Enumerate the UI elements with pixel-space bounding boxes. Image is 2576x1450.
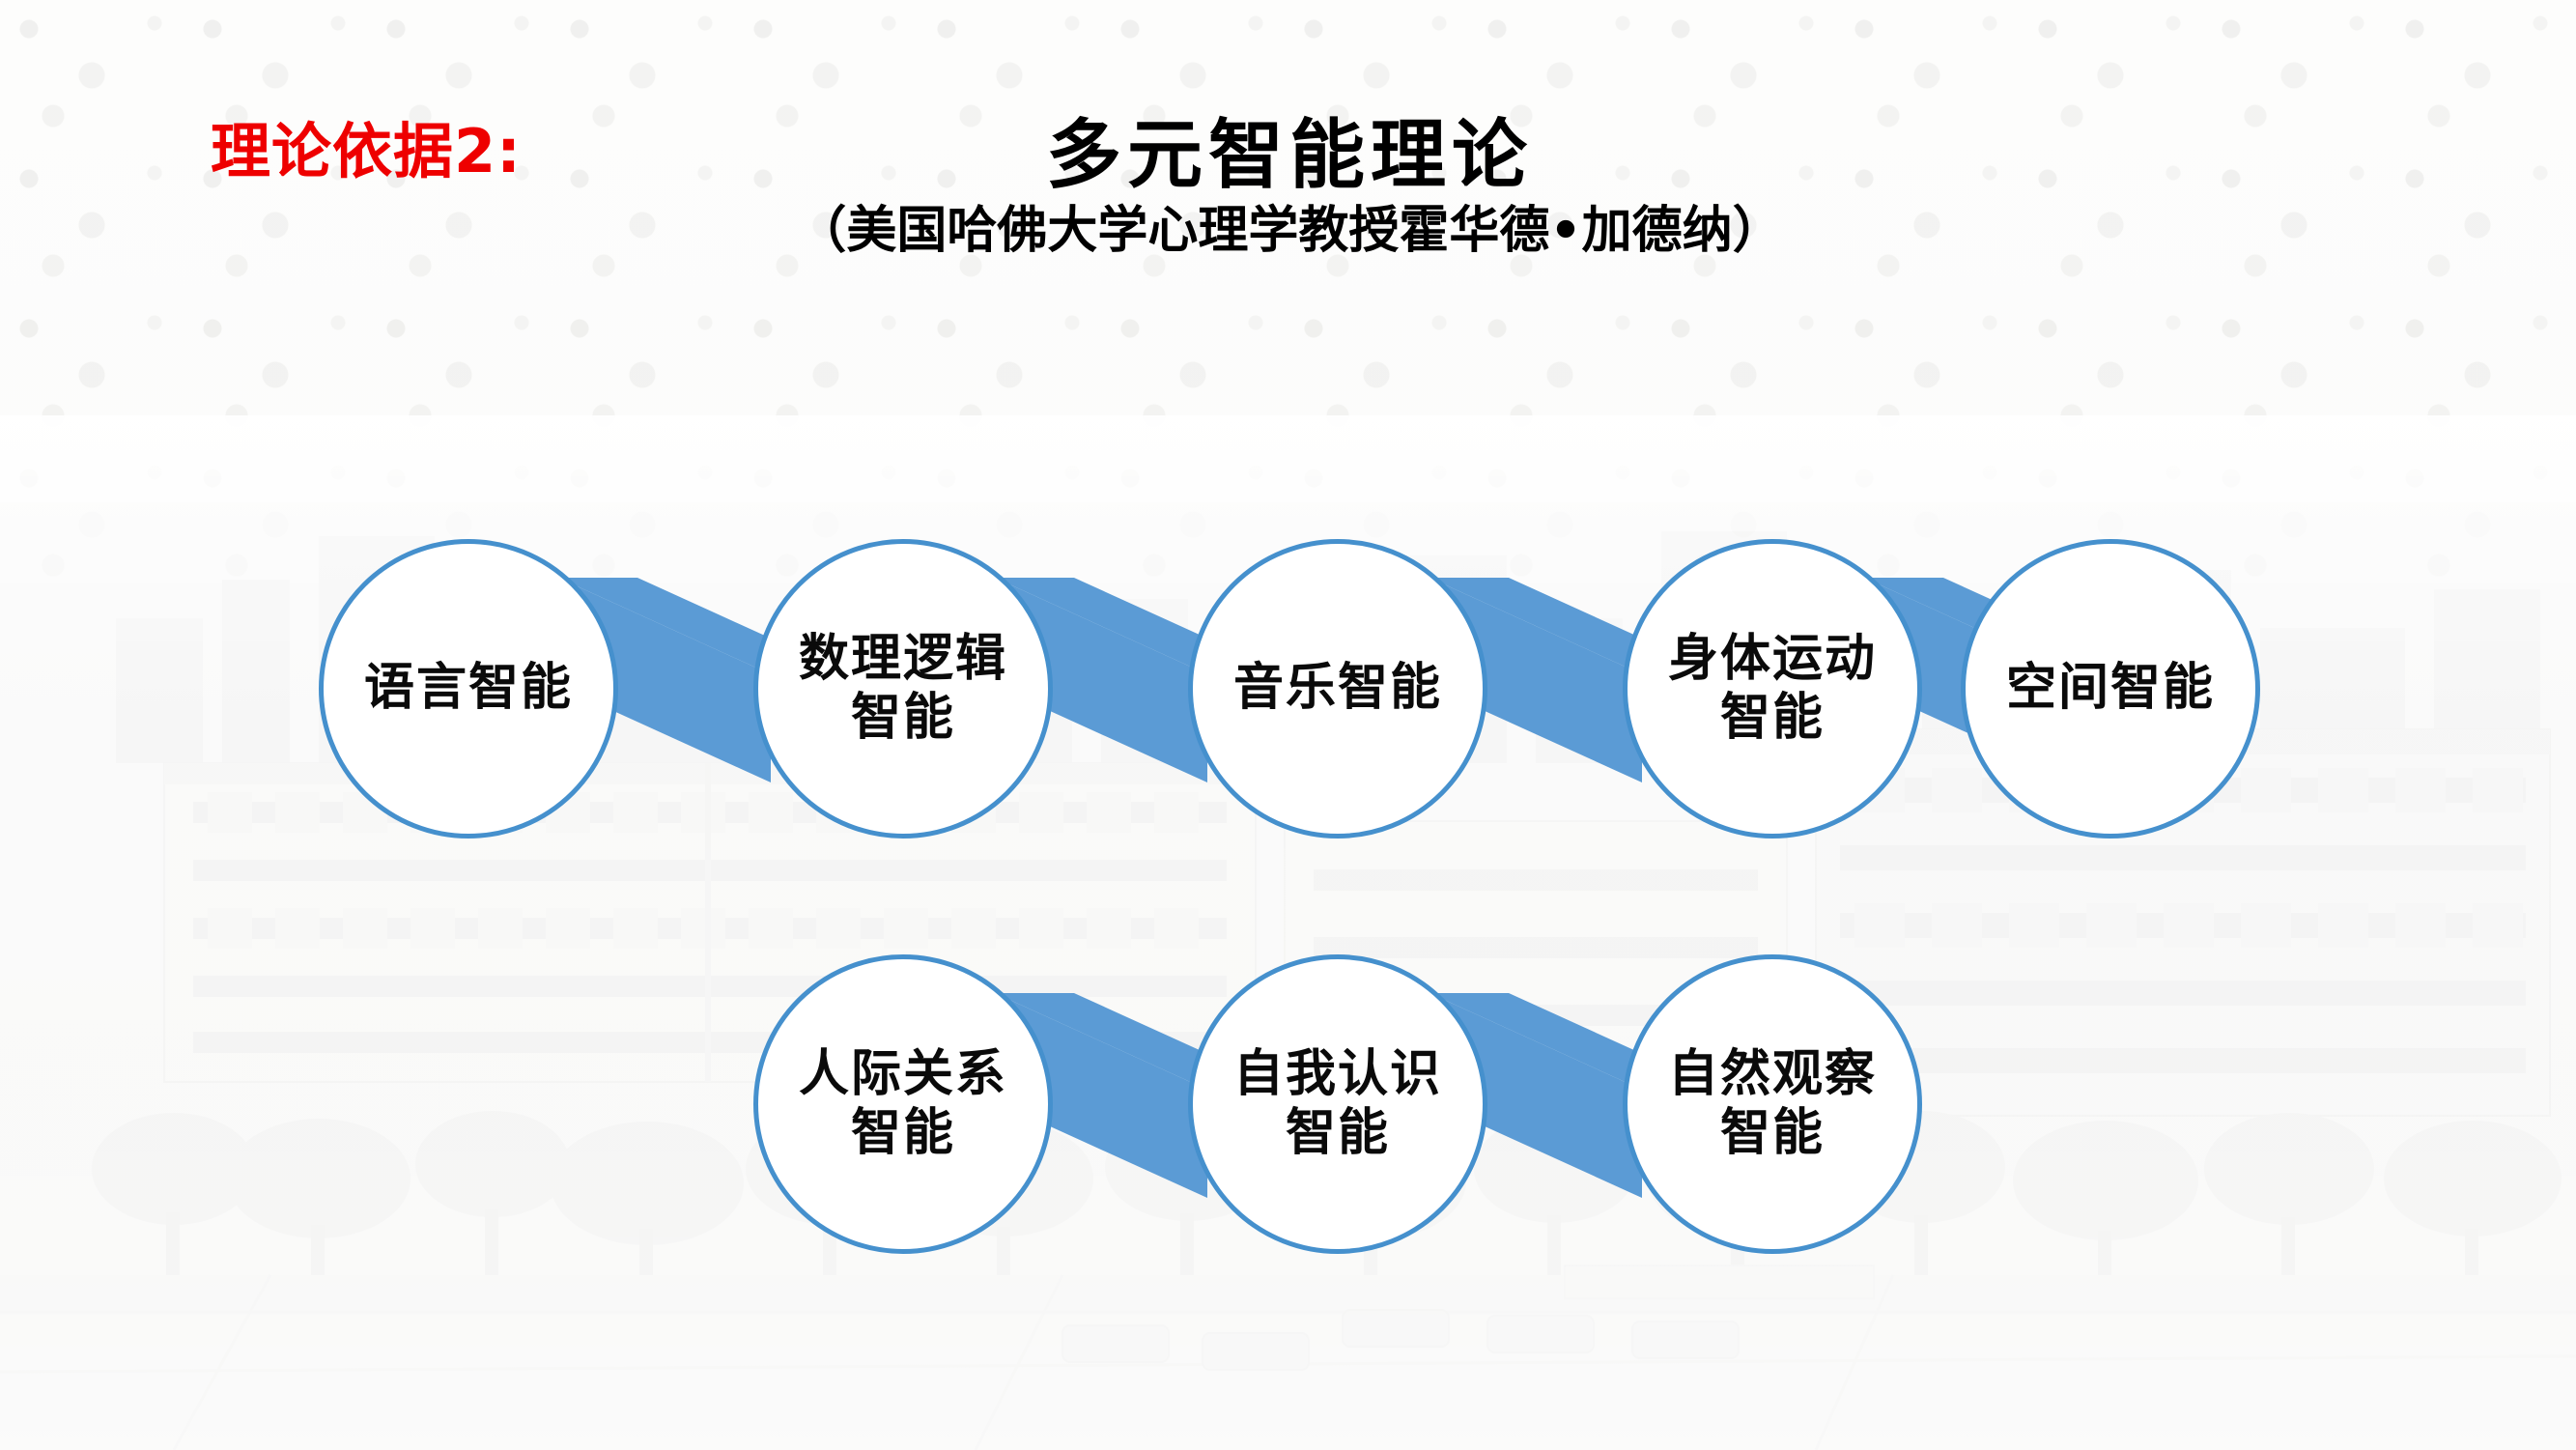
node-logical-math-label: 数理逻辑 智能 — [799, 630, 1007, 749]
node-interpersonal[interactable]: 人际关系 智能 — [753, 954, 1053, 1254]
node-intrapersonal[interactable]: 自我认识 智能 — [1188, 954, 1487, 1254]
node-naturalist-label: 自然观察 智能 — [1668, 1045, 1877, 1164]
node-intrapersonal-label: 自我认识 智能 — [1233, 1045, 1442, 1164]
node-musical[interactable]: 音乐智能 — [1188, 539, 1487, 839]
node-interpersonal-label: 人际关系 智能 — [799, 1045, 1007, 1164]
node-bodily-kinesthetic-label: 身体运动 智能 — [1668, 630, 1877, 749]
node-linguistic-label: 语言智能 — [364, 659, 573, 718]
node-linguistic[interactable]: 语言智能 — [319, 539, 618, 839]
slide-canvas: 理论依据2: 多元智能理论 （美国哈佛大学心理学教授霍华德•加德纳） — [0, 0, 2576, 1450]
node-spatial[interactable]: 空间智能 — [1961, 539, 2260, 839]
node-musical-label: 音乐智能 — [1233, 659, 1442, 718]
node-spatial-label: 空间智能 — [2006, 659, 2215, 718]
node-logical-math[interactable]: 数理逻辑 智能 — [753, 539, 1053, 839]
node-naturalist[interactable]: 自然观察 智能 — [1623, 954, 1922, 1254]
multiple-intelligences-diagram: 语言智能 数理逻辑 智能 音乐智能 身体运动 智能 空间智能 人际关系 智能 自… — [0, 0, 2576, 1450]
node-bodily-kinesthetic[interactable]: 身体运动 智能 — [1623, 539, 1922, 839]
